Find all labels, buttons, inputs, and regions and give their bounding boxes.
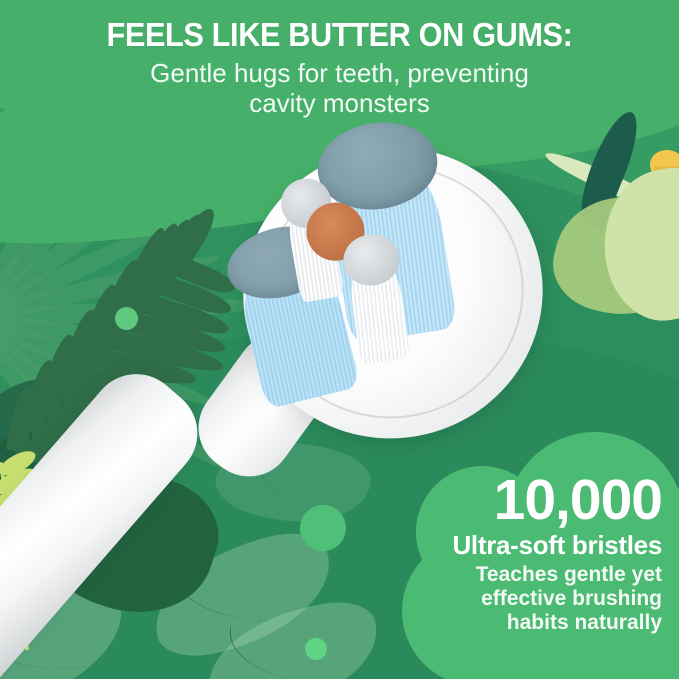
description-line-1: Teaches gentle yet [398, 563, 662, 587]
toothbrush-handle [0, 355, 216, 679]
description-line-3: habits naturally [398, 611, 662, 635]
bristle-count-callout: 10,000 Ultra-soft bristles Teaches gentl… [398, 470, 676, 635]
bristle-count-label: Ultra-soft bristles [398, 530, 662, 560]
product-marketing-poster: FEELS LIKE BUTTER ON GUMS: Gentle hugs f… [0, 0, 679, 679]
bristle-count-number: 10,000 [398, 470, 662, 530]
subheadline-line-2: cavity monsters [80, 88, 599, 118]
subheadline-line-1: Gentle hugs for teeth, preventing [80, 58, 599, 88]
subheadline: Gentle hugs for teeth, preventing cavity… [80, 58, 599, 118]
description-line-2: effective brushing [398, 587, 662, 611]
headline: FEELS LIKE BUTTER ON GUMS: [24, 16, 655, 54]
bristle-count-description: Teaches gentle yet effective brushing ha… [398, 563, 662, 635]
